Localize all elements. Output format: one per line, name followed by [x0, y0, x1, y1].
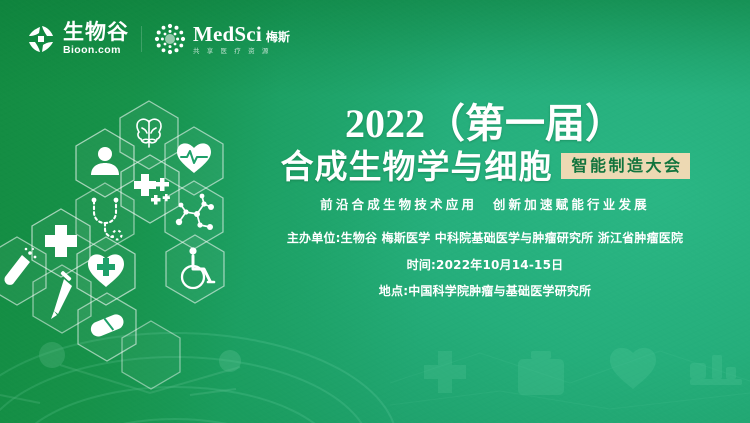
conference-poster: 生物谷 Bioon.com	[0, 0, 750, 423]
year-edition-title: 2022（第一届）	[248, 104, 722, 145]
hex-icon-cluster	[0, 96, 260, 386]
hospital-bed-icon	[690, 355, 742, 385]
medsci-en-name: MedSci	[193, 24, 262, 45]
medsci-logo[interactable]: MedSci 梅斯 共 享 医 疗 资 源	[154, 23, 290, 55]
page-title: 合成生物学与细胞	[280, 150, 552, 183]
hex-wheelchair	[164, 234, 226, 304]
cross-icon	[424, 351, 466, 393]
organizers-line: 主办单位:生物谷 梅斯医学 中科院基础医学与肿瘤研究所 浙江省肿瘤医院	[248, 229, 722, 246]
logo-divider	[141, 26, 142, 52]
event-time-line: 时间:2022年10月14-15日	[248, 256, 722, 273]
status-badge: 智能制造大会	[561, 153, 689, 179]
watermark-icon-strip	[390, 333, 750, 423]
hex-blank	[120, 320, 182, 390]
bioon-logo[interactable]: 生物谷 Bioon.com	[26, 22, 129, 56]
header-logo-bar: 生物谷 Bioon.com	[26, 22, 290, 56]
main-title-row: 合成生物学与细胞 智能制造大会	[248, 150, 722, 183]
medical-bag-icon	[518, 351, 564, 395]
medsci-cn-name: 梅斯	[266, 31, 290, 43]
medsci-tagline: 共 享 医 疗 资 源	[193, 48, 290, 55]
bioon-cn-name: 生物谷	[63, 22, 129, 43]
bioon-pinwheel-logo-icon	[26, 24, 56, 54]
medsci-radial-dots-logo-icon	[154, 23, 186, 55]
subtitle: 前沿合成生物技术应用 创新加速赋能行业发展	[248, 194, 722, 213]
heart-pulse-icon	[610, 348, 656, 389]
bioon-domain: Bioon.com	[63, 45, 129, 56]
poster-text-block: 2022（第一届） 合成生物学与细胞 智能制造大会 前沿合成生物技术应用 创新加…	[248, 104, 722, 299]
event-place-line: 地点:中国科学院肿瘤与基础医学研究所	[248, 282, 722, 299]
